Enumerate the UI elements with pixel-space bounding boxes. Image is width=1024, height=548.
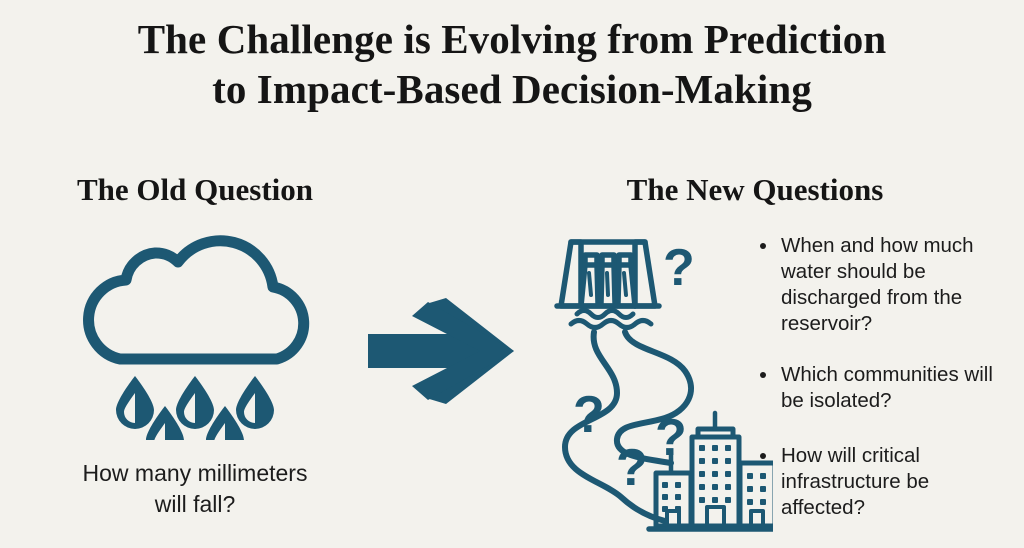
old-caption-line-1: How many millimeters xyxy=(0,458,390,489)
slide-canvas: The Challenge is Evolving from Predictio… xyxy=(0,0,1024,548)
new-questions-list: When and how much water should be discha… xyxy=(755,233,1017,545)
title-line-2: to Impact-Based Decision-Making xyxy=(0,64,1024,114)
bullet-dot-icon xyxy=(760,372,766,378)
new-questions-heading: The New Questions xyxy=(540,172,970,208)
question-mark-dam: ? xyxy=(663,239,695,297)
right-arrow-icon xyxy=(368,298,518,404)
old-question-caption: How many millimeters will fall? xyxy=(0,458,390,520)
list-item-label: Which communities will be isolated? xyxy=(781,363,993,412)
list-item-label: When and how much water should be discha… xyxy=(781,234,974,335)
list-item: When and how much water should be discha… xyxy=(755,233,1017,337)
question-mark-left: ? xyxy=(573,386,605,444)
old-question-heading: The Old Question xyxy=(0,172,390,208)
list-item-label: How will critical infrastructure be affe… xyxy=(781,444,929,519)
rain-cloud-icon xyxy=(70,228,340,440)
old-caption-line-2: will fall? xyxy=(0,489,390,520)
dam-river-city-icon: ? ? ? ? xyxy=(543,225,773,543)
title-line-1: The Challenge is Evolving from Predictio… xyxy=(0,14,1024,64)
list-item: Which communities will be isolated? xyxy=(755,362,1017,414)
page-title: The Challenge is Evolving from Predictio… xyxy=(0,14,1024,114)
bullet-dot-icon xyxy=(760,453,766,459)
question-mark-lower: ? xyxy=(616,439,648,497)
list-item: How will critical infrastructure be affe… xyxy=(755,443,1017,521)
bullet-dot-icon xyxy=(760,243,766,249)
